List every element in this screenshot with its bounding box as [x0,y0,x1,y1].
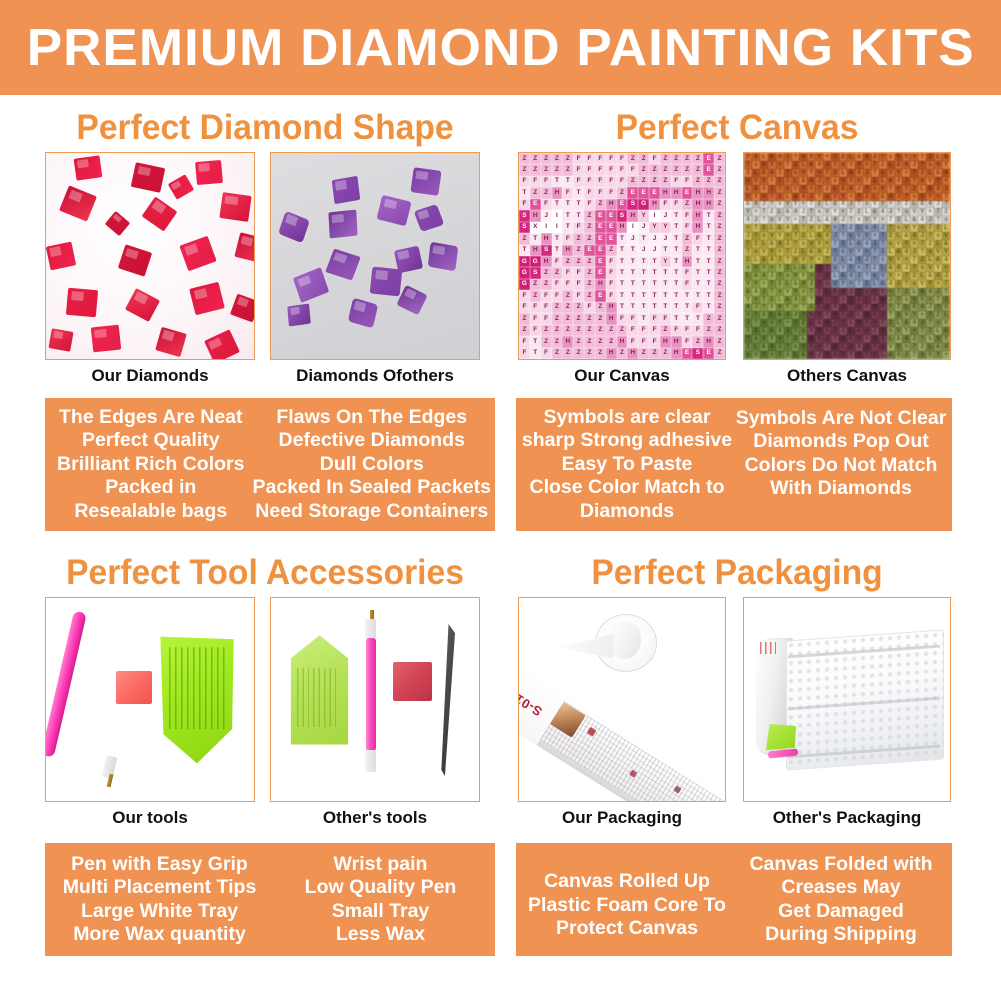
canvas-cell: F [649,153,660,164]
canvas-cell: & [942,240,950,248]
canvas-cell: V [744,280,752,288]
canvas-cell: V [752,264,760,272]
canvas-cell: s [799,240,807,248]
canvas-cell: F [692,302,703,313]
canvas-cell: T [671,222,682,233]
canvas-cell: J [847,201,855,209]
canvas-cell: + [902,169,910,177]
canvas-cell: Y [760,351,768,359]
canvas-cell: T [692,279,703,290]
canvas-cell: s [752,161,760,169]
canvas-cell: Z [584,222,595,233]
canvas-cell: 4 [807,351,815,359]
textbox-canvas: Symbols are clear sharp Strong adhesive … [516,398,952,531]
canvas-cell: 4 [871,224,879,232]
caption-others-canvas: Others Canvas [743,366,951,386]
canvas-cell: 7 [768,193,776,201]
image-other-diamonds [270,152,480,360]
canvas-cell: T [671,245,682,256]
canvas-cell: V [895,327,903,335]
canvas-cell: E [682,348,693,359]
canvas-cell: ? [784,343,792,351]
canvas-cell: V [902,224,910,232]
canvas-cell: s [792,256,800,264]
canvas-cell: s [871,185,879,193]
canvas-cell: T [671,290,682,301]
canvas-cell: Z [562,153,573,164]
canvas-cell: L [871,280,879,288]
canvas-cell: Y [926,280,934,288]
canvas-cell: & [895,335,903,343]
canvas-cell: 7 [895,288,903,296]
canvas-cell: F [584,176,595,187]
canvas-cell: J [760,288,768,296]
canvas-cell: 4 [879,208,887,216]
canvas-cell: V [823,208,831,216]
canvas-cell: T [692,290,703,301]
canvas-cell: 2 [831,256,839,264]
canvas-cell: G [638,199,649,210]
canvas-cell: F [519,348,530,359]
canvas-cell: 4 [744,304,752,312]
canvas-cell: Y [752,280,760,288]
canvas-cell: & [768,153,776,161]
canvas-cell: s [887,327,895,335]
canvas-cell: ? [879,327,887,335]
canvas-cell: + [831,311,839,319]
green-tray-small [287,633,352,748]
canvas-cell: & [855,153,863,161]
canvas-cell: ? [768,288,776,296]
canvas-cell: E [682,187,693,198]
canvas-cell: Y [839,193,847,201]
canvas-cell: F [682,210,693,221]
canvas-cell: T [573,187,584,198]
canvas-cell: s [942,304,950,312]
canvas-cell: V [895,153,903,161]
canvas-cell: L [831,272,839,280]
canvas-cell: Z [530,187,541,198]
canvas-cell: J [807,193,815,201]
canvas-cell: + [887,288,895,296]
canvas-cell: J [807,280,815,288]
textbox-column-others: Symbols Are Not Clear Diamonds Pop Out C… [734,404,948,525]
canvas-cell: E [595,290,606,301]
canvas-cell: L [918,185,926,193]
wax-square [393,662,432,701]
photo-other-tools [271,598,479,801]
canvas-cell: Z [671,164,682,175]
canvas-cell: 2 [839,240,847,248]
canvas-cell: s [831,351,839,359]
canvas-cell: J [649,245,660,256]
canvas-cell: Y [744,208,752,216]
canvas-cell: s [887,153,895,161]
canvas-cell: & [776,311,784,319]
canvas-cell: Z [584,233,595,244]
canvas-cell: & [760,169,768,177]
canvas-cell: L [799,335,807,343]
canvas-cell: ? [871,169,879,177]
canvas-cell: T [617,279,628,290]
canvas-cell: Z [682,233,693,244]
canvas-cell: s [863,201,871,209]
canvas-cell: Z [595,348,606,359]
canvas-cell: 4 [887,193,895,201]
canvas-cell: ? [815,193,823,201]
canvas-cell: 7 [934,208,942,216]
canvas-cell: + [744,224,752,232]
canvas-cell: 7 [792,319,800,327]
canvas-cell: & [855,327,863,335]
canvas-cell: T [530,336,541,347]
canvas-cell: F [573,279,584,290]
canvas-cell: ? [823,177,831,185]
canvas-cell: T [649,290,660,301]
diamond-drill [287,304,311,327]
canvas-cell: F [617,313,628,324]
canvas-cell: Z [714,279,725,290]
canvas-cell: Z [584,313,595,324]
canvas-cell: s [926,161,934,169]
canvas-cell: T [682,313,693,324]
canvas-cell: L [744,272,752,280]
canvas-cell: ? [926,319,934,327]
textbox-column-ours: Pen with Easy Grip Multi Placement Tips … [49,849,270,950]
canvas-cell: F [541,302,552,313]
canvas-cell: Y [660,256,671,267]
canvas-cell: & [895,161,903,169]
canvas-cell: 7 [799,216,807,224]
canvas-cell: L [792,177,800,185]
canvas-cell: E [595,210,606,221]
canvas-cell: 7 [776,177,784,185]
canvas-cell: Y [760,177,768,185]
canvas-cell: H [660,187,671,198]
canvas-cell: J [910,248,918,256]
canvas-cell: F [552,256,563,267]
canvas-cell: Z [649,164,660,175]
canvas-cell: 7 [942,193,950,201]
canvas-cell: G [530,256,541,267]
canvas-cell: J [863,169,871,177]
canvas-cell: Y [807,343,815,351]
canvas-cell: J [887,296,895,304]
canvas-cell: H [692,222,703,233]
canvas-cell: H [703,187,714,198]
canvas-cell: s [847,232,855,240]
canvas-cell: T [671,256,682,267]
canvas-cell: ? [910,264,918,272]
canvas-cell: F [627,336,638,347]
canvas-cell: s [902,296,910,304]
canvas-cell: Z [584,267,595,278]
canvas-cell: E [595,245,606,256]
canvas-cell: Z [714,256,725,267]
canvas-cell: Y [895,343,903,351]
canvas-cell: Y [799,272,807,280]
canvas-cell: V [784,288,792,296]
canvas-cell: 7 [863,351,871,359]
canvas-cell: ? [910,351,918,359]
canvas-cell: S [519,222,530,233]
canvas-cell: G [519,279,530,290]
canvas-cell: & [871,208,879,216]
canvas-cell: H [530,210,541,221]
canvas-cell: V [815,224,823,232]
canvas-cell: H [692,199,703,210]
canvas-cell: 4 [910,319,918,327]
canvas-cell: F [606,164,617,175]
canvas-cell: V [863,216,871,224]
canvas-cell: 2 [895,304,903,312]
canvas-cell: 7 [831,240,839,248]
canvas-cell: & [744,201,752,209]
canvas-cell: + [831,224,839,232]
canvas-cell: Y [649,222,660,233]
canvas-cell: + [902,256,910,264]
canvas-cell: s [760,319,768,327]
canvas-cell: F [606,256,617,267]
canvas-cell: J [760,201,768,209]
canvas-cell: Z [595,325,606,336]
canvas-cell: 2 [926,240,934,248]
canvas-cell: F [682,336,693,347]
canvas-cell: E [617,199,628,210]
canvas-cell: 4 [784,311,792,319]
canvas-cell: + [776,248,784,256]
canvas-cell: 4 [744,216,752,224]
canvas-cell: L [752,169,760,177]
canvas-cell: F [530,313,541,324]
image-other-tools [270,597,480,802]
canvas-cell: Y [910,224,918,232]
canvas-cell: Z [617,325,628,336]
canvas-cell: F [682,176,693,187]
canvas-cell: 2 [752,240,760,248]
canvas-cell: J [910,161,918,169]
canvas-cell: F [671,325,682,336]
canvas-cell: T [627,267,638,278]
canvas-cell: Z [714,233,725,244]
canvas-cell: L [792,264,800,272]
canvas-cell: & [926,185,934,193]
canvas-cell: J [831,232,839,240]
canvas-cell: Z [541,325,552,336]
canvas-cell: Y [887,185,895,193]
text-line: More Wax quantity [73,923,246,947]
canvas-cell: J [942,185,950,193]
canvas-cell: 4 [879,296,887,304]
canvas-cell: + [879,304,887,312]
canvas-cell: T [519,187,530,198]
canvas-cell: V [807,153,815,161]
canvas-cell: V [942,319,950,327]
diamond-drill [329,209,358,238]
canvas-cell: Z [541,153,552,164]
canvas-cell: Z [714,325,725,336]
canvas-cell: J [799,296,807,304]
text-line: Packed in [105,476,196,500]
canvas-cell: 2 [760,224,768,232]
canvas-cell: Z [606,325,617,336]
canvas-cell: T [660,279,671,290]
canvas-cell: F [519,176,530,187]
canvas-cell: ? [799,311,807,319]
canvas-cell: & [942,153,950,161]
canvas-cell: 7 [918,153,926,161]
canvas-cell: 4 [776,327,784,335]
canvas-cell: + [744,311,752,319]
canvas-cell: ? [776,185,784,193]
canvas-cell: V [926,351,934,359]
text-line: Get Damaged [778,900,904,924]
canvas-cell: F [627,325,638,336]
canvas-cell: 7 [823,343,831,351]
canvas-cell: s [799,327,807,335]
canvas-cell: Y [744,296,752,304]
canvas-cell: T [660,302,671,313]
canvas-cell: F [606,279,617,290]
canvas-cell: ? [855,201,863,209]
canvas-cell: 7 [918,240,926,248]
canvas-cell: ? [768,201,776,209]
canvas-cell: Z [714,210,725,221]
canvas-cell: J [871,153,879,161]
canvas-cell: H [541,233,552,244]
green-tray-large [158,634,236,766]
canvas-cell: 7 [910,169,918,177]
canvas-cell: H [595,279,606,290]
canvas-cell: ? [902,280,910,288]
text-line: Colors Do Not Match [745,454,938,478]
diamond-drill [428,241,459,271]
canvas-cell: F [519,302,530,313]
canvas-cell: L [839,256,847,264]
canvas-cell: & [752,185,760,193]
canvas-cell: J [768,185,776,193]
canvas-cell: J [918,232,926,240]
diamond-drill [66,288,98,318]
canvas-cell: J [839,216,847,224]
canvas-cell: s [871,272,879,280]
canvas-cell: Y [768,335,776,343]
canvas-cell: 2 [934,311,942,319]
canvas-cell: 4 [918,304,926,312]
canvas-cell: ? [847,304,855,312]
canvas-cell: L [934,327,942,335]
canvas-cell: L [776,208,784,216]
canvas-cell: X [530,222,541,233]
canvas-cell: ? [895,208,903,216]
caption-our-diamonds: Our Diamonds [45,366,255,386]
canvas-cell: F [638,325,649,336]
canvas-cell: F [682,325,693,336]
canvas-cell: L [784,280,792,288]
canvas-cell: Z [660,325,671,336]
canvas-cell: H [671,187,682,198]
canvas-cell: F [519,290,530,301]
canvas-cell: ? [744,248,752,256]
canvas-cell: Z [552,164,563,175]
canvas-cell: 4 [839,201,847,209]
canvas-cell: T [671,279,682,290]
canvas-cell: 7 [807,288,815,296]
section-heading-diamond-shape: Perfect Diamond Shape [49,108,481,148]
canvas-cell: 7 [784,161,792,169]
text-line: During Shipping [765,923,917,947]
canvas-cell: T [617,233,628,244]
canvas-cell: & [887,177,895,185]
canvas-cell: T [617,267,628,278]
canvas-cell: ? [855,288,863,296]
canvas-cell: T [638,233,649,244]
canvas-cell: V [926,177,934,185]
canvas-cell: ? [918,335,926,343]
canvas-cell: s [768,216,776,224]
canvas-cell: V [752,351,760,359]
textbox-column-others: Flaws On The Edges Defective Diamonds Du… [253,404,491,525]
canvas-cell: Z [714,164,725,175]
canvas-cell: Z [692,336,703,347]
canvas-cell: L [934,153,942,161]
canvas-cell: 7 [879,232,887,240]
diamond-drill [49,328,74,352]
canvas-cell: + [823,153,831,161]
canvas-cell: T [552,245,563,256]
canvas-cell: V [887,169,895,177]
canvas-cell: V [871,201,879,209]
canvas-cell: + [942,177,950,185]
canvas-cell: + [910,327,918,335]
canvas-cell: J [879,311,887,319]
canvas-cell: 4 [895,264,903,272]
text-line: Less Wax [336,923,425,947]
canvas-cell: 2 [918,169,926,177]
canvas-cell: & [815,319,823,327]
canvas-cell: F [541,176,552,187]
canvas-cell: L [926,256,934,264]
canvas-cell: V [760,248,768,256]
canvas-cell: Y [799,185,807,193]
caption-our-canvas: Our Canvas [518,366,726,386]
canvas-cell: ? [847,216,855,224]
canvas-cell: Z [552,336,563,347]
canvas-cell: V [792,185,800,193]
canvas-cell: 2 [831,343,839,351]
canvas-cell: L [768,311,776,319]
canvas-cell: T [552,176,563,187]
canvas-cell: + [752,296,760,304]
canvas-cell: + [855,351,863,359]
photo-red-drills [46,153,254,359]
canvas-cell: Y [926,193,934,201]
canvas-cell: V [792,272,800,280]
text-line: Creases May [781,876,900,900]
canvas-cell: 4 [902,161,910,169]
canvas-cell: + [784,319,792,327]
canvas-cell: + [863,248,871,256]
canvas-cell: T [703,267,714,278]
canvas-cell: + [863,161,871,169]
canvas-cell: 4 [815,248,823,256]
canvas-cell: V [839,264,847,272]
canvas-cell: F [552,279,563,290]
canvas-cell: 2 [902,201,910,209]
canvas-cell: 2 [760,311,768,319]
text-line: Symbols Are Not Clear [736,407,947,431]
canvas-cell: 7 [831,327,839,335]
